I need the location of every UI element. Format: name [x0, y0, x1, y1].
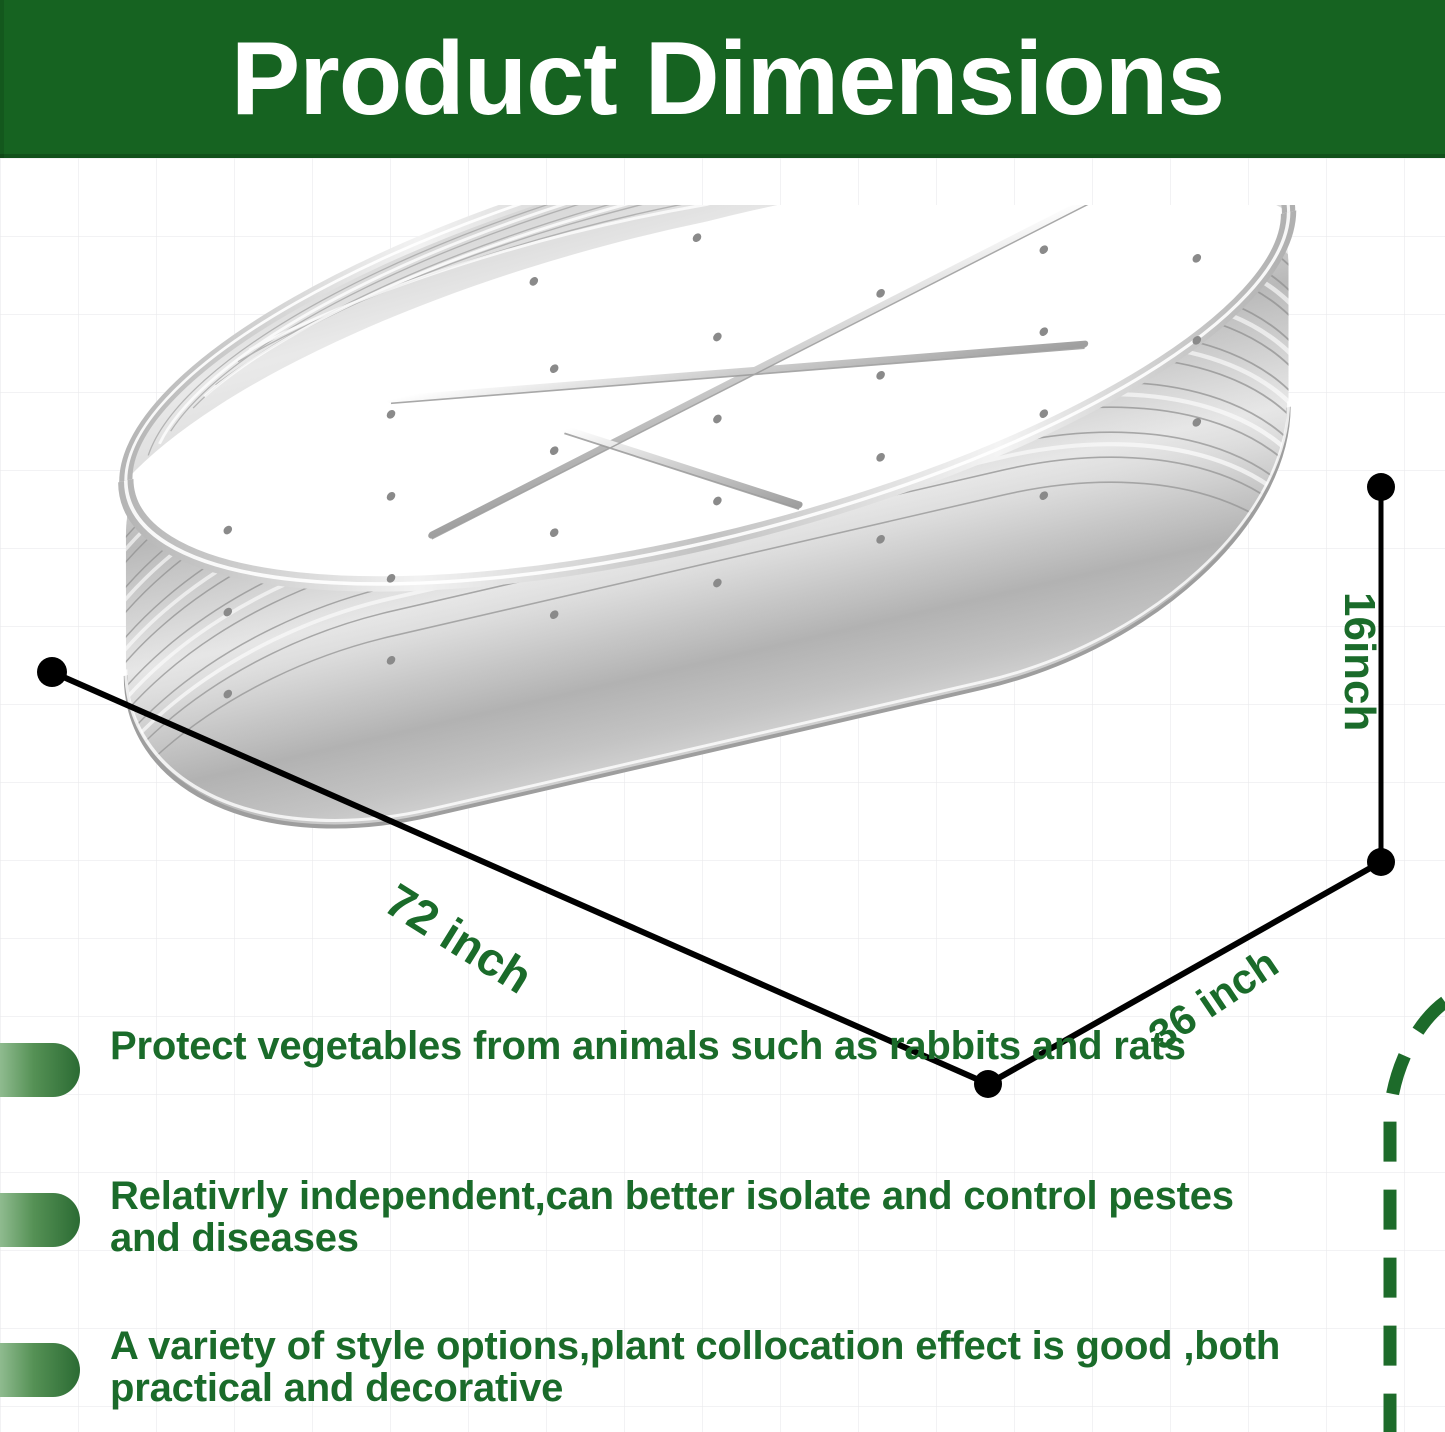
- feature-text: Protect vegetables from animals such as …: [110, 1025, 1300, 1067]
- list-item: Relativrly independent,can better isolat…: [0, 1175, 1300, 1325]
- header-bar: Product Dimensions: [0, 0, 1445, 158]
- page-title: Product Dimensions: [0, 27, 1445, 131]
- feature-list: Protect vegetables from animals such as …: [0, 1025, 1300, 1432]
- bullet-pill-icon: [0, 1193, 80, 1247]
- list-item: Protect vegetables from animals such as …: [0, 1025, 1300, 1175]
- garden-bed-drawing: [55, 205, 1355, 1035]
- dimension-label-height: 16inch: [1334, 592, 1384, 731]
- bullet-pill-icon: [0, 1043, 80, 1097]
- product-dimensions-infographic: Product Dimensions: [0, 0, 1445, 1432]
- product-illustration: [55, 205, 1355, 1035]
- bullet-pill-icon: [0, 1343, 80, 1397]
- feature-text: A variety of style options,plant colloca…: [110, 1325, 1300, 1410]
- feature-text: Relativrly independent,can better isolat…: [110, 1175, 1300, 1260]
- list-item: A variety of style options,plant colloca…: [0, 1325, 1300, 1432]
